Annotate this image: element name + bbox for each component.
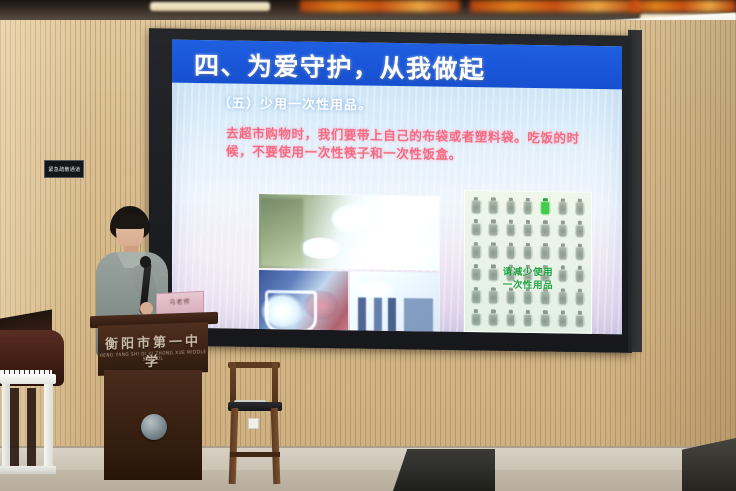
bottle-icon <box>520 217 536 239</box>
piano-table-leg-right <box>44 384 53 472</box>
bottle-icon <box>468 217 484 239</box>
poster-slogan: 请减少使用 一次性用品 <box>465 265 591 293</box>
bottle-icon <box>537 308 553 330</box>
reduce-disposables-poster: 请减少使用 一次性用品 <box>464 190 592 334</box>
stool-tag <box>248 418 259 429</box>
podium-emblem <box>141 414 167 440</box>
slide-body-text: 去超市购物时，我们要带上自己的布袋或者塑料袋。吃饭的时候，不要使用一次性筷子和一… <box>226 124 596 165</box>
presenter-fringe <box>112 214 148 229</box>
disposable-plates-photo <box>259 194 439 271</box>
bottle-icon <box>554 195 570 217</box>
bottle-icon-grid <box>468 194 588 330</box>
projected-slide: 四、为爱守护，从我做起 （五）少用一次性用品。 去超市购物时，我们要带上自己的布… <box>172 40 622 335</box>
bottle-icon <box>554 218 570 240</box>
bottle-icon <box>554 240 570 262</box>
bottle-icon <box>520 195 536 217</box>
stool-footrest <box>230 452 280 457</box>
emergency-exit-plaque: 紧急疏散通道 <box>44 160 84 178</box>
bottle-icon <box>503 307 519 329</box>
stool-leg-left <box>229 408 239 484</box>
bottle-icon <box>468 307 484 329</box>
bottle-icon <box>537 240 553 262</box>
bottle-icon <box>572 308 588 330</box>
stool-backrest-right <box>272 362 278 406</box>
piano-table-top <box>0 374 56 384</box>
piano-table-leg-left <box>2 384 10 472</box>
poster-slogan-line2: 一次性用品 <box>465 278 591 293</box>
bottle-icon <box>572 241 588 263</box>
bottle-icon <box>537 218 553 240</box>
bottle-icon <box>485 239 501 261</box>
bottle-icon <box>503 240 519 262</box>
bar-stool <box>222 362 288 484</box>
bottle-icon <box>485 194 501 216</box>
bottle-icon <box>503 217 519 239</box>
bottle-icon <box>520 307 536 329</box>
bottle-icon <box>503 195 519 217</box>
bottle-icon <box>520 240 536 262</box>
name-card-label: 马老师 <box>157 292 203 314</box>
photo-collage <box>258 193 440 334</box>
piano-table-base <box>0 466 56 474</box>
bottle-icon-highlighted <box>537 195 553 217</box>
podium: 马老师 衡阳市第一中学 HENG YANG SHI DI YI ZHONG XU… <box>96 314 212 482</box>
slide-subtitle: （五）少用一次性用品。 <box>218 92 372 113</box>
slide-title: 四、为爱守护，从我做起 <box>194 46 486 86</box>
bottle-icon <box>485 217 501 239</box>
bottle-icon <box>572 218 588 240</box>
bottle-icon <box>468 194 484 216</box>
piano-under-shadow <box>10 388 44 466</box>
bottle-icon <box>468 239 484 261</box>
bottle-icon <box>485 307 501 329</box>
stool-leg-right <box>271 408 281 484</box>
plastic-bottles-photo <box>350 271 439 334</box>
bottle-icon <box>572 196 588 218</box>
screen-right-edge <box>628 30 642 352</box>
plaque-label: 紧急疏散通道 <box>48 165 80 172</box>
microphone-head-icon <box>140 256 151 268</box>
bottle-icon <box>554 308 570 330</box>
lecture-hall-photo: 紧急疏散通道 四、为爱守护，从我做起 （五）少用一次性用品。 去超市购物时，我们… <box>0 0 736 491</box>
stage-monitor-speaker <box>393 449 495 491</box>
piano <box>0 330 100 480</box>
plastic-basin-photo <box>259 270 348 334</box>
podium-front-panel: 衡阳市第一中学 HENG YANG SHI DI YI ZHONG XUE MI… <box>98 322 208 376</box>
